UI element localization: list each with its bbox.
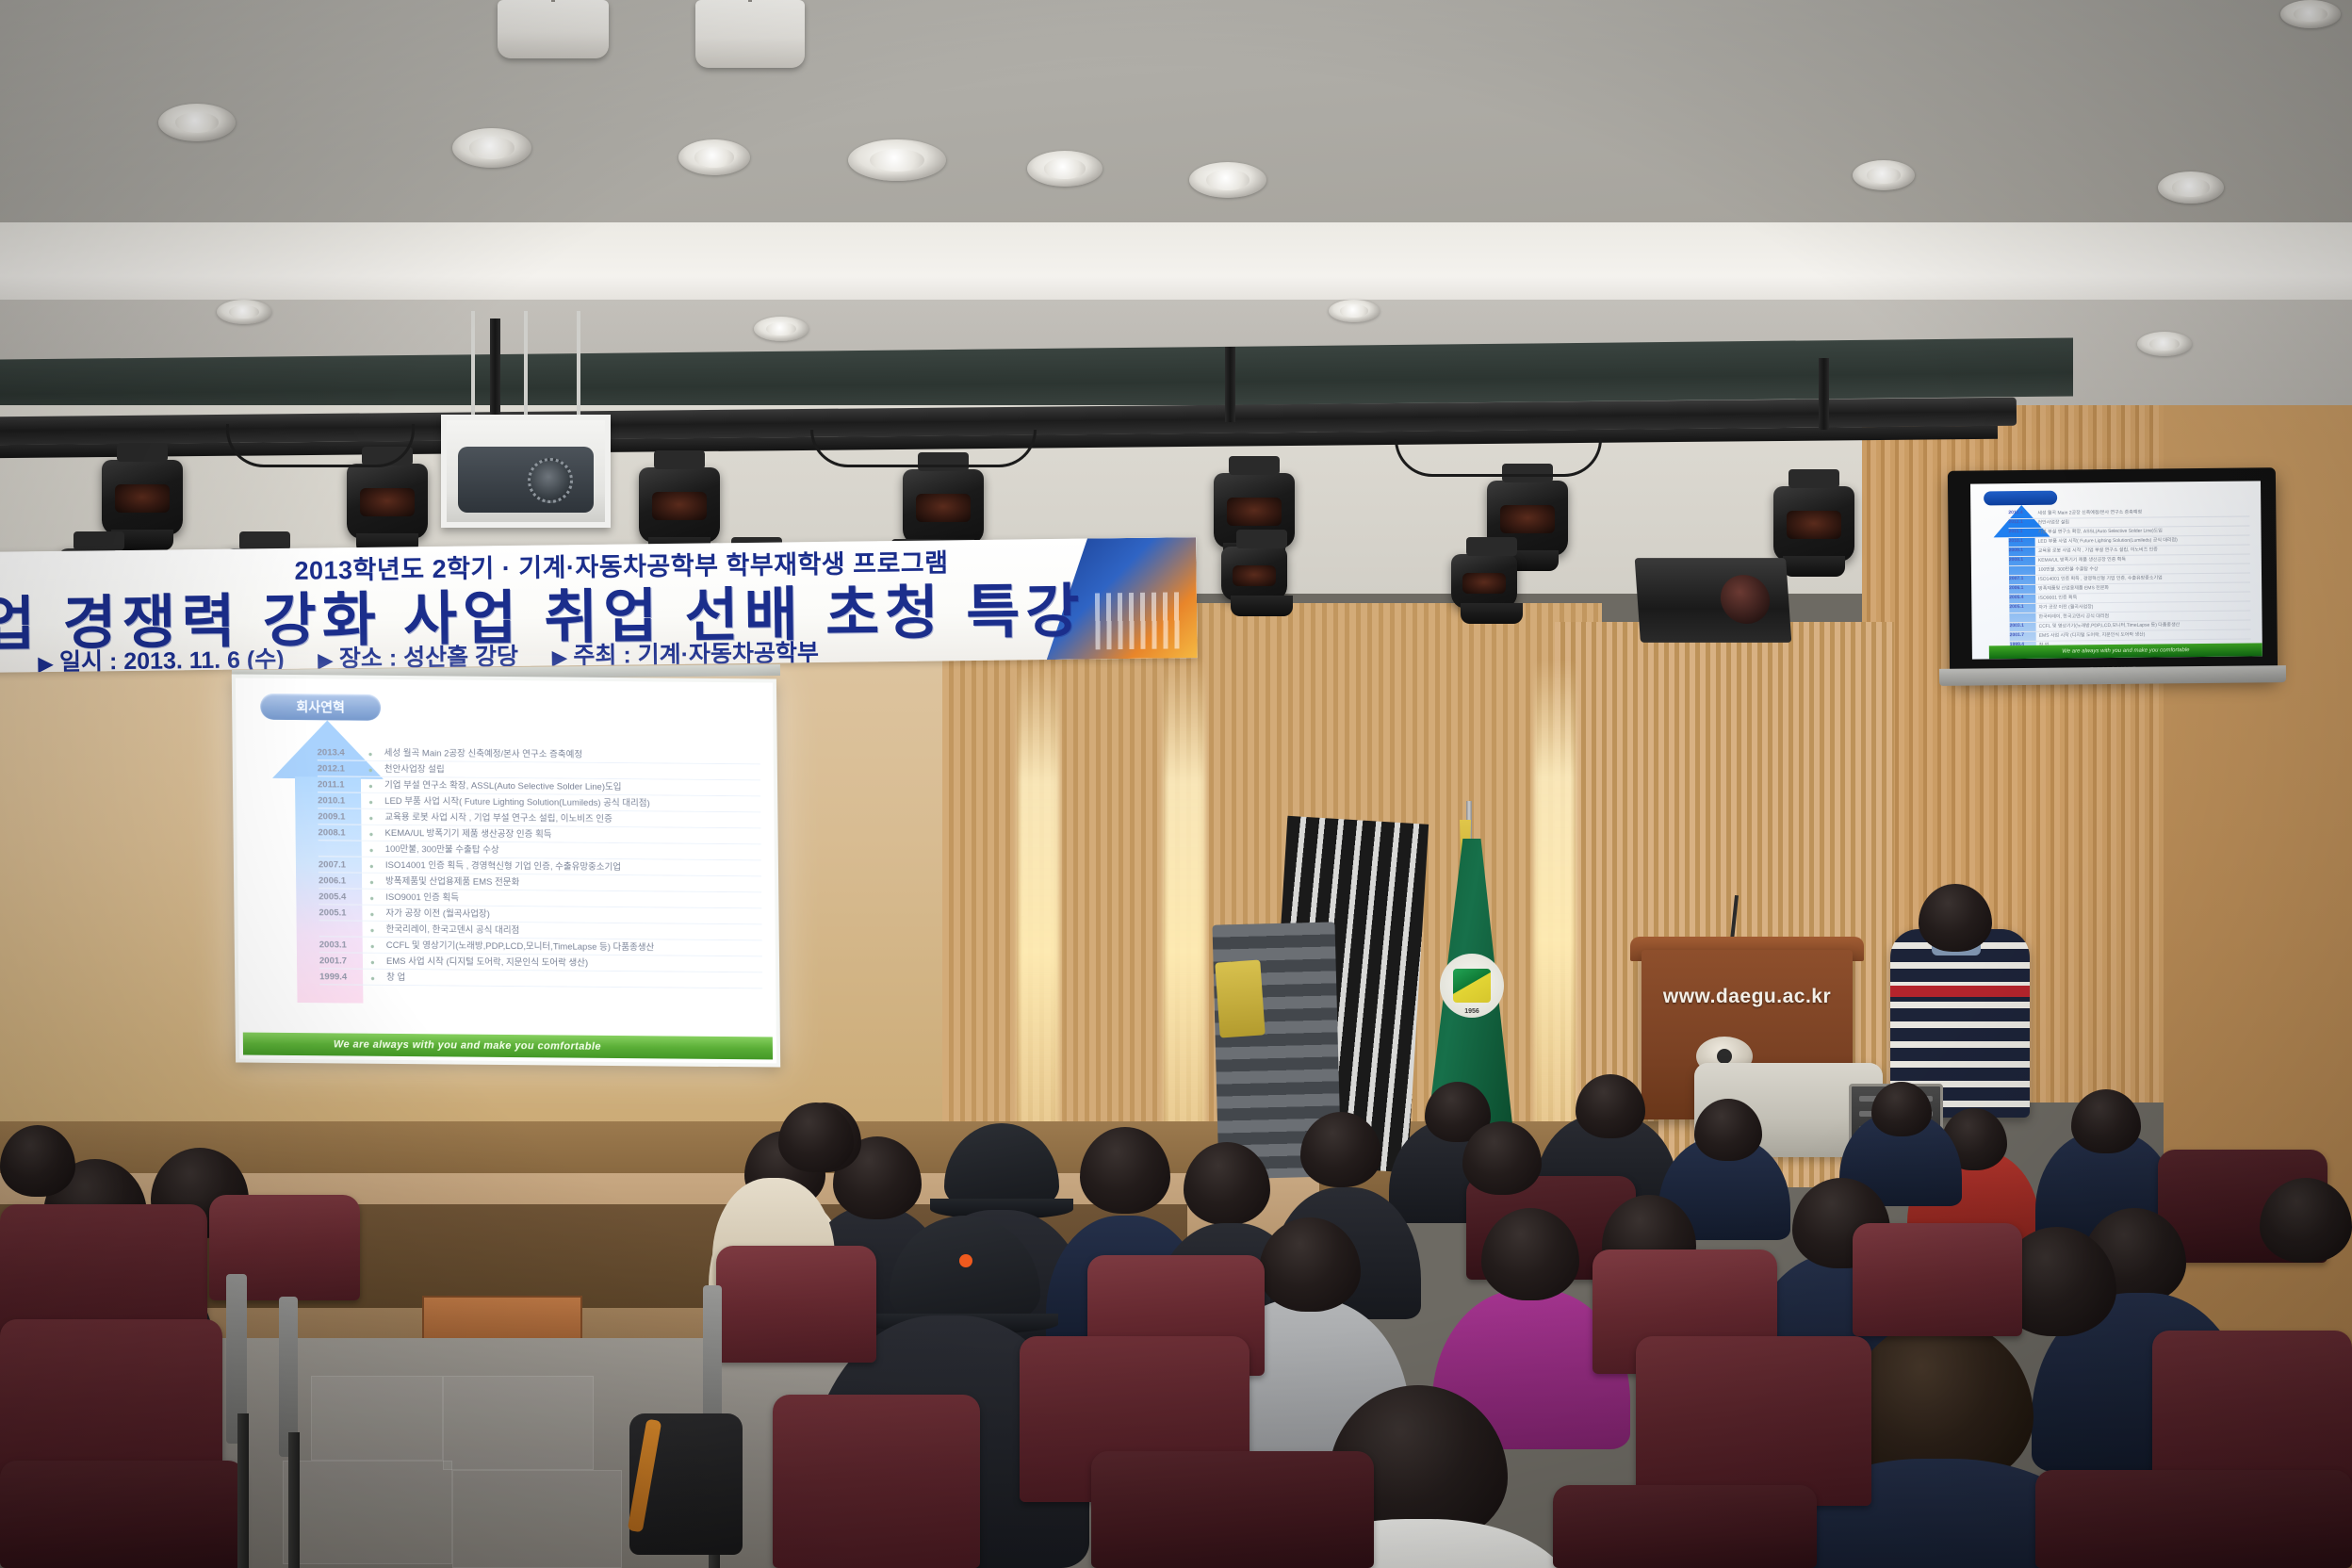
tv-wall-mount bbox=[1939, 665, 2286, 686]
slide-row-date: 2007.1 bbox=[318, 858, 362, 870]
slide-row-date: 2011.1 bbox=[318, 778, 361, 790]
slide-heading: 회사연혁 bbox=[260, 694, 381, 721]
arrow-icon: ▶ bbox=[39, 654, 54, 673]
tv-row-text: EMS 사업 시작 (디지털 도어락, 지문인식 도어락 생산) bbox=[2039, 631, 2146, 641]
tv-row-text: 천안사업장 설립 bbox=[2037, 518, 2069, 527]
stacked-yellow-item bbox=[1215, 959, 1265, 1037]
spotlight-lens bbox=[1462, 573, 1506, 594]
slide-row-text: 방폭제품및 산업용제품 EMS 전문화 bbox=[385, 875, 519, 889]
slide-row-date: 2005.1 bbox=[318, 906, 362, 918]
tv-row-text: LED 부품 사업 시작( Future Lighting Solution(L… bbox=[2038, 536, 2178, 547]
tv-row-text: 100만불, 300만불 수출탑 수상 bbox=[2038, 565, 2099, 575]
tv-slide-timeline: 2013.4세성 월곡 Main 2공장 신축예정/본사 연구소 증축예정201… bbox=[2008, 507, 2251, 651]
tv-row-text: ISO14001 인증 획득 , 경영혁신형 기업 인증, 수출유망중소기업 bbox=[2038, 574, 2163, 583]
bullet-icon: ● bbox=[369, 891, 378, 903]
seat-leg bbox=[288, 1432, 300, 1568]
bullet-icon: ● bbox=[369, 907, 378, 919]
emblem-shield bbox=[1453, 969, 1491, 1003]
tv-row-text: 자가 공장 이전 (월곡사업장) bbox=[2038, 603, 2093, 612]
bullet-icon: ● bbox=[369, 859, 378, 871]
downlight-icon bbox=[2280, 0, 2341, 28]
tv-row-date: 2013.4 bbox=[2008, 510, 2033, 518]
tv-row-date: 2005.4 bbox=[2009, 595, 2033, 603]
slide-row-text: ISO9001 인증 획득 bbox=[385, 891, 459, 905]
bullet-icon: ● bbox=[370, 923, 379, 935]
ceiling-projector bbox=[441, 415, 611, 528]
tv-screen: 2013.4세성 월곡 Main 2공장 신축예정/본사 연구소 증축예정201… bbox=[1970, 481, 2262, 659]
slide-row-text: 자가 공장 이전 (월곡사업장) bbox=[385, 907, 490, 921]
slide-row-date bbox=[319, 923, 363, 923]
wall-light-column bbox=[1164, 660, 1205, 1150]
stage-spotlight bbox=[347, 464, 428, 539]
tv-row-date: 2010.1 bbox=[2009, 538, 2033, 547]
stage-spotlight bbox=[639, 467, 720, 543]
audience-member-head bbox=[1871, 1082, 1932, 1136]
projector-hanger bbox=[471, 311, 584, 416]
slide-timeline: 2013.4●세성 월곡 Main 2공장 신축예정/본사 연구소 증축예정20… bbox=[318, 744, 763, 988]
slide-timeline-row: 1999.4●창 업 bbox=[319, 969, 762, 988]
slide-row-text: 교육용 로봇 사업 시작 , 기업 부설 연구소 설립, 이노비즈 인증 bbox=[384, 811, 612, 825]
truss-cable bbox=[810, 430, 1037, 467]
slide-footer-tagline: We are always with you and make you comf… bbox=[243, 1033, 773, 1060]
tv-row-text: CCFL 및 영상기기(노래방,PDP,LCD,모니터,TimeLapse 등)… bbox=[2039, 621, 2180, 631]
spotlight-lens bbox=[652, 492, 707, 520]
downlight-icon bbox=[452, 128, 531, 168]
slide-surface: 회사연혁 2013.4●세성 월곡 Main 2공장 신축예정/본사 연구소 증… bbox=[236, 678, 776, 1064]
podium-emblem-dot bbox=[1717, 1049, 1732, 1064]
downlight-icon bbox=[1027, 151, 1102, 187]
tv-row-date: 2007.1 bbox=[2009, 576, 2033, 584]
downlight-icon bbox=[2137, 332, 2192, 356]
slide-row-date: 2001.7 bbox=[319, 955, 363, 966]
university-emblem-icon: 1956 bbox=[1440, 954, 1504, 1018]
ceiling-pendant-light bbox=[695, 0, 805, 68]
arrow-icon: ▶ bbox=[552, 647, 567, 668]
slide-row-date: 2006.1 bbox=[318, 874, 362, 886]
auditorium-seat[interactable] bbox=[1553, 1485, 1817, 1568]
spotlight-lens bbox=[916, 494, 971, 522]
auditorium-seat[interactable] bbox=[1636, 1336, 1871, 1506]
tv-row-text: 기업 부설 연구소 확장, ASSL(Auto Selective Solder… bbox=[2037, 527, 2162, 536]
bullet-icon: ● bbox=[368, 779, 377, 791]
slide-row-date: 2012.1 bbox=[318, 762, 361, 774]
downlight-icon bbox=[2158, 171, 2224, 204]
stage-spotlight bbox=[102, 460, 183, 535]
tv-row-date bbox=[2009, 613, 2033, 622]
tv-row-date: 2008.1 bbox=[2009, 557, 2033, 565]
tv-row-date: 2006.1 bbox=[2009, 585, 2033, 594]
slide-row-text: EMS 사업 시작 (디지털 도어락, 지문인식 도어락 생산) bbox=[386, 955, 588, 970]
auditorium-seat[interactable] bbox=[2035, 1470, 2352, 1568]
wall-mounted-tv: 2013.4세성 월곡 Main 2공장 신축예정/본사 연구소 증축예정201… bbox=[1948, 467, 2278, 680]
ceiling-speaker bbox=[1635, 558, 1792, 643]
tv-row-text: 한국리레이, 한국고덴시 공식 대리점 bbox=[2038, 612, 2109, 622]
slide-row-text: LED 부품 사업 시작( Future Lighting Solution(L… bbox=[384, 795, 650, 809]
projector-body bbox=[458, 447, 594, 513]
auditorium-seat[interactable] bbox=[0, 1461, 245, 1568]
spotlight-lens bbox=[115, 484, 170, 513]
bullet-icon: ● bbox=[368, 795, 377, 807]
slide-row-date: 2005.4 bbox=[318, 890, 362, 902]
slide-row-date: 1999.4 bbox=[319, 971, 363, 982]
floor-tile bbox=[283, 1461, 452, 1564]
event-banner: 2013학년도 2학기 · 기계·자동차공학부 학부재학생 프로그램 업 경쟁력… bbox=[0, 537, 1198, 673]
floor-tile bbox=[311, 1376, 443, 1461]
slide-row-text: 기업 부설 연구소 확장, ASSL(Auto Selective Solder… bbox=[384, 779, 622, 793]
tv-row-date: 2003.1 bbox=[2010, 623, 2034, 631]
floor-tile bbox=[443, 1376, 594, 1470]
spotlight-lens bbox=[1227, 498, 1282, 526]
tv-row-date: 2009.1 bbox=[2009, 547, 2033, 556]
tv-row-text: ISO9001 인증 획득 bbox=[2038, 594, 2077, 602]
slide-row-date: 2008.1 bbox=[318, 826, 361, 838]
seat-leg bbox=[237, 1413, 249, 1568]
slide-row-text: 창 업 bbox=[386, 972, 405, 984]
spotlight-lens bbox=[1500, 505, 1555, 533]
bullet-icon: ● bbox=[368, 747, 377, 759]
downlight-icon bbox=[754, 317, 808, 341]
stage-spotlight bbox=[1451, 554, 1517, 609]
truss-post bbox=[1819, 358, 1829, 430]
projector-lens-icon bbox=[528, 458, 573, 503]
tv-slide-footer: We are always with you and make you comf… bbox=[1989, 643, 2262, 659]
tv-row-date bbox=[2009, 566, 2033, 575]
downlight-icon bbox=[678, 139, 750, 175]
spotlight-lens bbox=[360, 488, 415, 516]
stage-spotlight bbox=[1221, 547, 1287, 601]
truss-cable bbox=[226, 424, 415, 467]
stage-spotlight bbox=[903, 469, 984, 545]
tv-row-text: 세성 월곡 Main 2공장 신축예정/본사 연구소 증축예정 bbox=[2037, 509, 2142, 518]
downlight-icon bbox=[1329, 300, 1380, 322]
slide-row-text: 세성 월곡 Main 2공장 신축예정/본사 연구소 증축예정 bbox=[384, 747, 583, 761]
downlight-icon bbox=[1853, 160, 1915, 190]
slide-row-date: 2010.1 bbox=[318, 794, 361, 806]
auditorium-seat[interactable] bbox=[1091, 1451, 1374, 1568]
projection-screen: 회사연혁 2013.4●세성 월곡 Main 2공장 신축예정/본사 연구소 증… bbox=[232, 674, 780, 1067]
floor-tile bbox=[452, 1470, 622, 1568]
tv-row-text: KEMA/UL 방폭기기 제품 생산공장 인증 획득 bbox=[2038, 556, 2126, 565]
tv-row-text: 방폭제품및 산업용제품 EMS 전문화 bbox=[2038, 584, 2109, 594]
tv-row-date: 2012.1 bbox=[2008, 519, 2033, 528]
slide-row-date: 2009.1 bbox=[318, 810, 361, 822]
auditorium-seat[interactable] bbox=[1853, 1223, 2022, 1336]
bullet-icon: ● bbox=[369, 843, 378, 855]
tv-row-date: 2005.1 bbox=[2009, 604, 2033, 612]
tv-row-date: 2001.7 bbox=[2010, 632, 2034, 641]
tv-row-date: 2011.1 bbox=[2008, 529, 2033, 537]
ceiling-pendant-light bbox=[498, 0, 609, 58]
downlight-icon bbox=[848, 139, 946, 181]
downlight-icon bbox=[217, 300, 271, 324]
presenter-sweater-red-stripe bbox=[1890, 986, 2030, 997]
slide-row-date: 2003.1 bbox=[319, 939, 363, 950]
bullet-icon: ● bbox=[368, 811, 377, 823]
spotlight-lens bbox=[1787, 511, 1841, 539]
wall-light-column bbox=[1534, 660, 1576, 1131]
bullet-icon: ● bbox=[370, 955, 379, 967]
slide-row-text: 한국리레이, 한국고덴시 공식 대리점 bbox=[386, 923, 520, 937]
bullet-icon: ● bbox=[370, 939, 379, 951]
slide-row-date: 2013.4 bbox=[318, 746, 361, 758]
slide-row-text: 천안사업장 설립 bbox=[384, 763, 445, 776]
wall-light-column bbox=[1018, 660, 1059, 1150]
truss-post bbox=[1225, 347, 1235, 422]
bullet-icon: ● bbox=[369, 875, 378, 887]
bullet-icon: ● bbox=[370, 972, 379, 983]
truss-cable bbox=[1395, 439, 1602, 477]
slide-row-date bbox=[318, 842, 362, 843]
spotlight-lens bbox=[1233, 565, 1276, 586]
cap-logo-icon bbox=[959, 1254, 972, 1267]
banner-detail-item: ▶ 일시 : 2013. 11. 6 (수) bbox=[38, 641, 284, 673]
speaker-driver-icon bbox=[1719, 575, 1772, 624]
auditorium-seat[interactable] bbox=[773, 1395, 980, 1568]
tv-slide-heading bbox=[1984, 491, 2057, 506]
auditorium-seat[interactable] bbox=[716, 1246, 876, 1363]
slide-row-text: CCFL 및 영상기기(노래방,PDP,LCD,모니터,TimeLapse 등)… bbox=[386, 939, 655, 954]
ceiling bbox=[0, 0, 2352, 254]
bullet-icon: ● bbox=[368, 763, 377, 775]
slide-row-text: KEMA/UL 방폭기기 제품 생산공장 인증 획득 bbox=[385, 827, 552, 841]
auditorium-photo: 2013학년도 2학기 · 기계·자동차공학부 학부재학생 프로그램 업 경쟁력… bbox=[0, 0, 2352, 1568]
slide-row-text: ISO14001 인증 획득 , 경영혁신형 기업 인증, 수출유망중소기업 bbox=[385, 859, 621, 874]
tv-row-text: 교육용 로봇 사업 시작 , 기업 부설 연구소 설립, 이노비즈 인증 bbox=[2038, 546, 2158, 555]
stage-spotlight bbox=[1773, 486, 1854, 562]
bullet-icon: ● bbox=[369, 827, 378, 839]
downlight-icon bbox=[158, 104, 236, 141]
slide-row-text: 100만불, 300만불 수출탑 수상 bbox=[385, 843, 499, 857]
emblem-year: 1956 bbox=[1440, 1008, 1504, 1015]
downlight-icon bbox=[1189, 162, 1266, 198]
podium-url-label: www.daegu.ac.kr bbox=[1641, 986, 1853, 1008]
